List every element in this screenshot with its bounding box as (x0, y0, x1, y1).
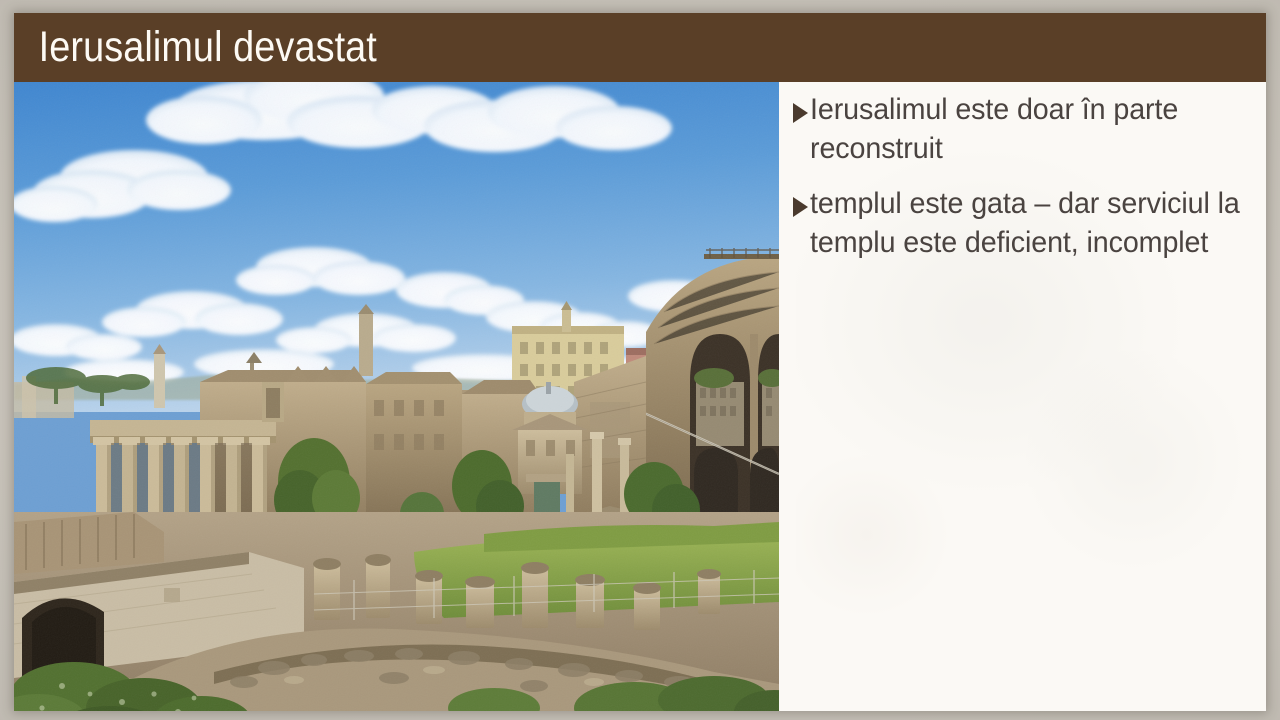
triangle-right-bullet-icon (793, 103, 808, 123)
bullet-text: templul este gata – dar serviciul la tem… (810, 184, 1240, 262)
bullet-text: Ierusalimul este doar în parte reconstru… (810, 90, 1240, 168)
triangle-right-bullet-icon (793, 197, 808, 217)
slide-body: Ierusalimul este doar în parte reconstru… (14, 82, 1266, 711)
bullet-list: Ierusalimul este doar în parte reconstru… (793, 90, 1260, 278)
list-item[interactable]: Ierusalimul este doar în parte reconstru… (793, 90, 1260, 168)
photo-illustration (14, 82, 779, 711)
list-item[interactable]: templul este gata – dar serviciul la tem… (793, 184, 1260, 262)
desktop-background: Ierusalimul devastat (0, 0, 1280, 720)
slide-title-bar: Ierusalimul devastat (14, 13, 1266, 82)
presentation-slide: Ierusalimul devastat (14, 13, 1266, 711)
page-title: Ierusalimul devastat (14, 26, 377, 69)
roman-forum-photo (14, 82, 779, 711)
